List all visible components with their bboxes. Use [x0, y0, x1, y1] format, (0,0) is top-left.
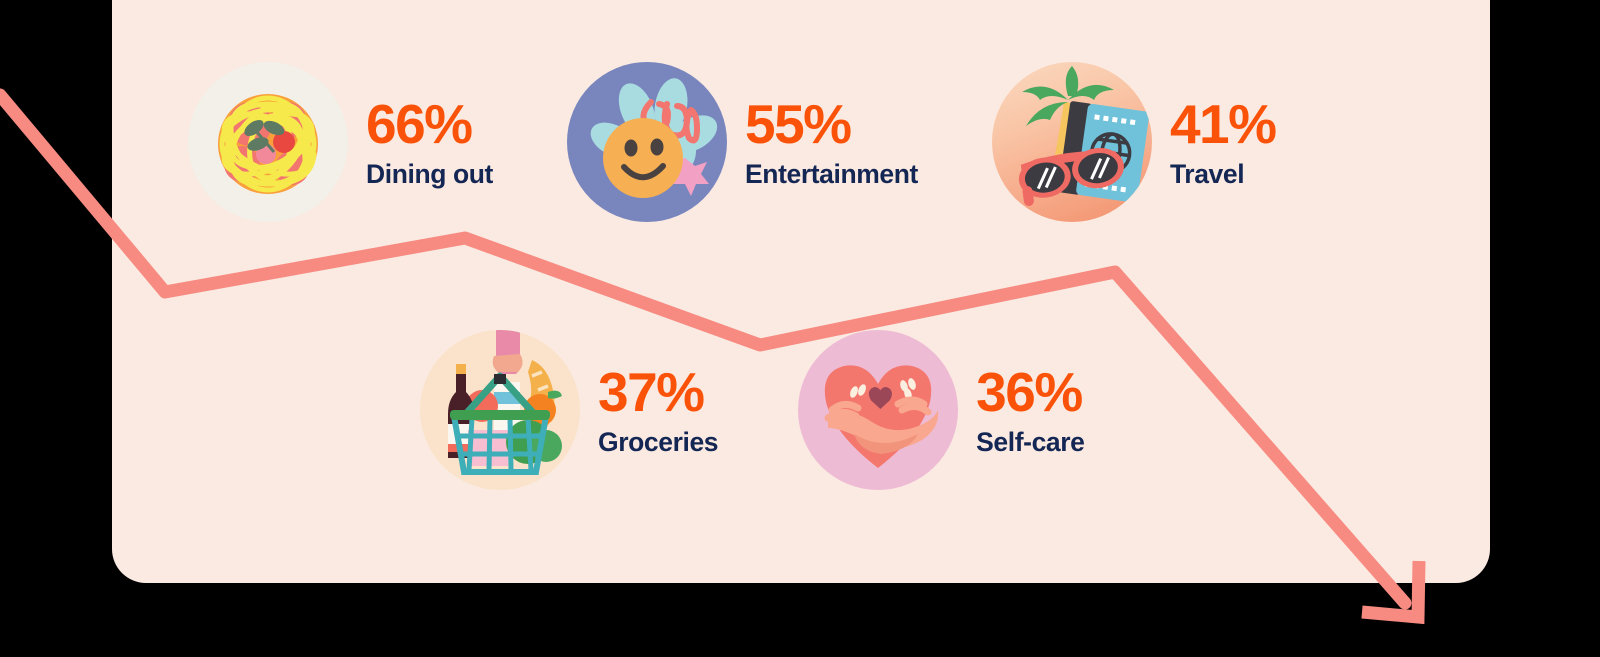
stat-item-entertainment[interactable]: 55% Entertainment [567, 62, 918, 222]
stat-text-entertainment: 55% Entertainment [745, 97, 918, 188]
stat-item-travel[interactable]: 41% Travel [992, 62, 1276, 222]
stat-item-self-care[interactable]: 36% Self-care [798, 330, 1084, 490]
infographic-stage: 66% Dining out [0, 0, 1600, 657]
spaghetti-bowl-icon [188, 62, 348, 222]
stat-label: Groceries [598, 429, 718, 456]
stat-item-dining-out[interactable]: 66% Dining out [188, 62, 493, 222]
grocery-basket-icon [420, 330, 580, 490]
stat-percent: 41% [1170, 97, 1276, 152]
passport-palm-sunglasses-icon [992, 62, 1152, 222]
stat-percent: 36% [976, 365, 1084, 420]
stat-label: Travel [1170, 161, 1276, 188]
stat-text-dining-out: 66% Dining out [366, 97, 493, 188]
stat-text-self-care: 36% Self-care [976, 365, 1084, 456]
heart-hug-icon [798, 330, 958, 490]
stat-text-travel: 41% Travel [1170, 97, 1276, 188]
smiley-flower-icon [567, 62, 727, 222]
stat-label: Entertainment [745, 161, 918, 188]
stats-row-bottom: 37% Groceries [420, 330, 1085, 490]
stat-percent: 37% [598, 365, 718, 420]
stat-percent: 55% [745, 97, 918, 152]
stats-row-top: 66% Dining out [188, 62, 1276, 222]
stat-label: Dining out [366, 161, 493, 188]
stat-item-groceries[interactable]: 37% Groceries [420, 330, 718, 490]
stat-text-groceries: 37% Groceries [598, 365, 718, 456]
stat-percent: 66% [366, 97, 493, 152]
stat-label: Self-care [976, 429, 1084, 456]
